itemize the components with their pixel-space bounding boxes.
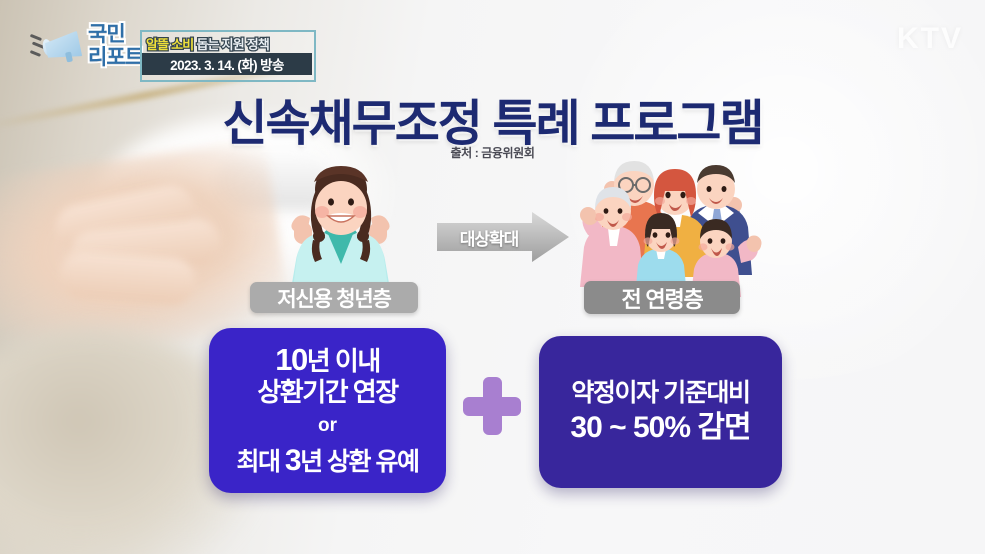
program-logo: 국민 리포트 <box>30 24 143 72</box>
sound-line <box>30 34 42 41</box>
logo-line-2: 리포트 <box>88 47 143 68</box>
to-group-label: 전 연령층 <box>584 281 740 314</box>
right-card-line-1: 약정이자 기준대비 <box>571 378 749 408</box>
left-card-connector: or <box>318 415 337 437</box>
banner-subtitle-highlight: 알뜰 소비 <box>146 34 193 53</box>
logo-line-1: 국민 <box>88 24 143 45</box>
left-card-line-1: 10년 이내 <box>275 343 379 378</box>
left-card-line-1-rest: 년 이내 <box>307 346 380 376</box>
family-all-ages-illustration <box>568 143 763 298</box>
broadcast-graphic-stage: KTV 국민 리포트 알뜰 소비 돕는 지원 정책 2023. 3. 14. (… <box>0 0 985 554</box>
source-credit: 출처 : 금융위원회 <box>0 144 985 161</box>
sound-line <box>30 50 41 56</box>
left-card-years-number: 10 <box>275 342 306 377</box>
finger-blur-3 <box>59 250 197 305</box>
young-woman-thumbs-up-illustration <box>258 160 423 295</box>
program-logo-text: 국민 리포트 <box>88 24 143 68</box>
family-svg <box>568 143 763 298</box>
banner-airdate: 2023. 3. 14. (화) 방송 <box>142 53 312 75</box>
expansion-arrow: 대상확대 <box>437 212 569 262</box>
right-card-line-2: 30 ~ 50% 감면 <box>570 410 750 446</box>
benefit-card-left: 10년 이내 상환기간 연장 or 최대 3년 상환 유예 <box>209 328 446 493</box>
megaphone-icon <box>30 24 86 72</box>
young-woman-svg <box>258 160 423 295</box>
plus-icon <box>463 377 521 435</box>
left-card-line-3: 최대 3년 상환 유예 <box>236 442 418 478</box>
megaphone-body <box>44 31 83 64</box>
left-card-line-2: 상환기간 연장 <box>257 378 397 408</box>
left-card-line-3-rest: 년 상환 유예 <box>300 448 418 476</box>
from-group-label: 저신용 청년층 <box>250 282 418 313</box>
ktv-watermark: KTV <box>897 22 963 56</box>
plus-bar-vertical <box>483 377 502 435</box>
left-card-line-3-pre: 최대 <box>236 448 284 476</box>
left-card-grace-number: 3 <box>285 444 300 477</box>
benefit-card-right: 약정이자 기준대비 30 ~ 50% 감면 <box>539 336 782 488</box>
banner-subtitle-rest: 돕는 지원 정책 <box>196 34 269 53</box>
banner-subtitle: 알뜰 소비 돕는 지원 정책 <box>146 33 309 53</box>
arrow-label: 대상확대 <box>443 225 535 250</box>
